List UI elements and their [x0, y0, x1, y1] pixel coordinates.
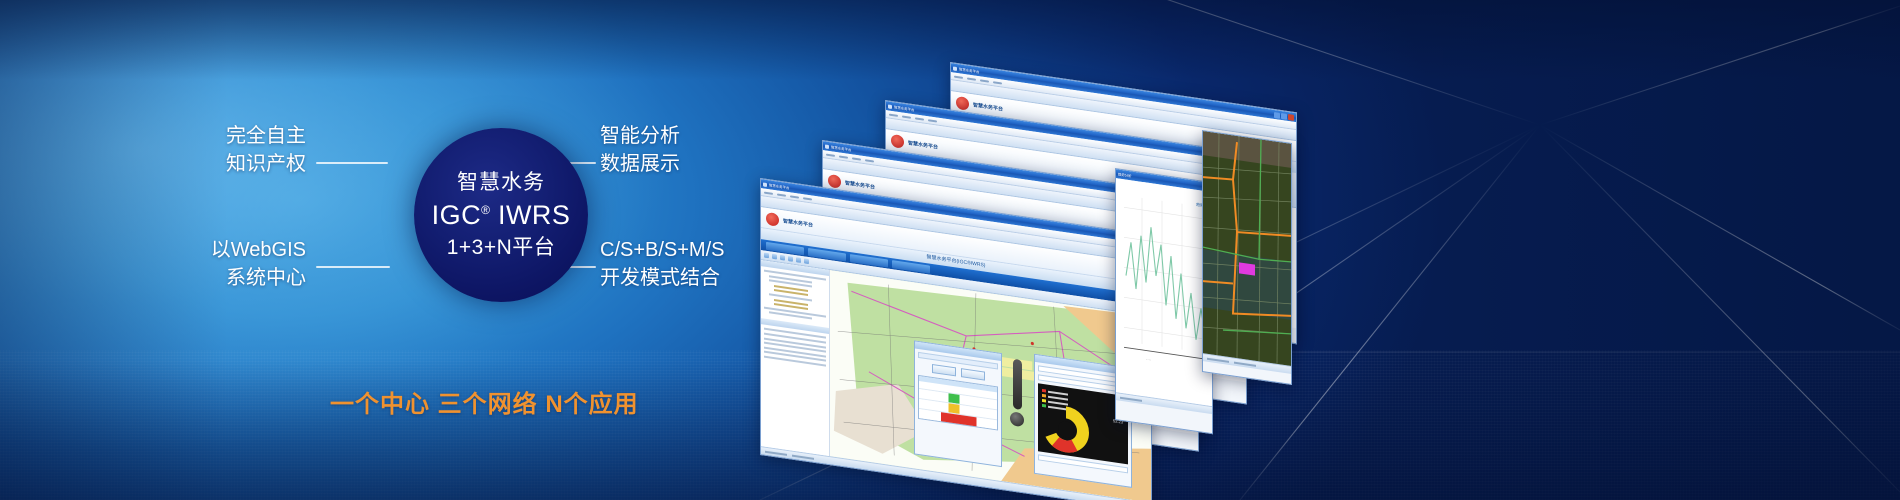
- app-brand-text: 智慧水务平台: [908, 139, 938, 150]
- water-drop-logo-icon: [956, 95, 969, 110]
- feature-label-line1: 完全自主: [178, 122, 306, 150]
- feature-label-line1: C/S+B/S+M/S: [600, 236, 800, 264]
- water-drop-logo-icon: [828, 173, 841, 188]
- hub-product-code: IGC® IWRS: [432, 202, 571, 229]
- svg-text:····: ····: [1146, 357, 1151, 363]
- application-window-stack: 智慧水务平台 智慧水务平台 智慧水务平台(IGC®IWRS): [760, 0, 1500, 500]
- window-icon: [825, 144, 829, 149]
- feature-label-line1: 以WebGIS: [178, 236, 306, 264]
- pan-compass-icon[interactable]: [1010, 411, 1024, 427]
- feature-label-line2: 知识产权: [178, 150, 306, 178]
- trend-chart[interactable]: ···· 趋势: [1116, 178, 1212, 406]
- hub-circle: 智慧水务 IGC® IWRS 1+3+N平台: [414, 128, 588, 302]
- feature-label-top-left: 完全自主 知识产权: [178, 122, 306, 179]
- window-icon: [888, 104, 892, 109]
- hub-product-name: 智慧水务: [457, 172, 545, 193]
- registered-trademark-icon: ®: [481, 203, 490, 217]
- zoom-slider[interactable]: [1013, 359, 1022, 410]
- water-drop-logo-icon: [891, 133, 904, 148]
- dialog-results-table: [918, 375, 998, 431]
- app-window-satellite[interactable]: [1202, 130, 1292, 385]
- app-window-front[interactable]: 智慧水务平台 智慧水务平台 智慧水务平台(IGC®IWRS): [760, 178, 1152, 500]
- analysis-dialog[interactable]: [914, 340, 1002, 467]
- feature-label-bottom-left: 以WebGIS 系统中心: [178, 236, 306, 293]
- map-navigation-control[interactable]: [1010, 358, 1024, 444]
- feature-label-line2: 系统中心: [178, 264, 306, 292]
- concept-diagram: 完全自主 知识产权 智能分析 数据展示 以WebGIS 系统中心 C/S+B/S…: [0, 0, 800, 500]
- dialog-confirm-button[interactable]: [932, 364, 956, 376]
- hub-code-tail: IWRS: [498, 200, 571, 230]
- maximize-icon[interactable]: [1281, 112, 1287, 119]
- app-brand-text: 智慧水务平台: [845, 179, 875, 190]
- feature-label-top-right: 智能分析 数据展示: [600, 122, 780, 179]
- connector-bottom-left: [316, 266, 390, 268]
- banner-stage: 智慧水务平台 智慧水务平台 智慧水务平台(IGC®IWRS): [0, 0, 1900, 500]
- hub-code-main: IGC: [432, 200, 482, 230]
- window-icon: [953, 66, 957, 71]
- connector-top-left: [316, 162, 388, 164]
- minimize-icon[interactable]: [1274, 111, 1280, 118]
- gis-tool-icon[interactable]: [804, 258, 809, 264]
- feature-label-line1: 智能分析: [600, 122, 780, 150]
- app-window-chart[interactable]: 趋势分析 ···· 趋势: [1115, 168, 1213, 434]
- app-brand-text: 智慧水务平台: [973, 101, 1003, 112]
- dialog-cancel-button[interactable]: [961, 368, 985, 380]
- close-icon[interactable]: [1288, 114, 1294, 121]
- satellite-map-canvas[interactable]: [1203, 131, 1291, 366]
- hub-platform-label: 1+3+N平台: [447, 237, 556, 258]
- feature-label-bottom-right: C/S+B/S+M/S 开发模式结合: [600, 236, 800, 293]
- tagline: 一个中心 三个网络 N个应用: [330, 384, 790, 419]
- feature-label-line2: 开发模式结合: [600, 264, 800, 292]
- feature-label-line2: 数据展示: [600, 150, 780, 178]
